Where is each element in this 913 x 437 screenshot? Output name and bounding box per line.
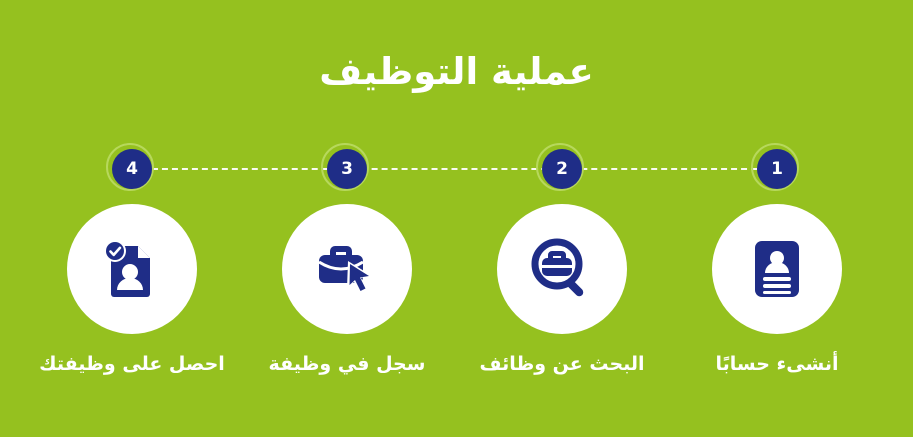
process-step-3[interactable]: 3 سجل في وظيفة [237,143,457,377]
step-badge-2: 2 [536,143,588,195]
step-icon-disc-2 [497,204,627,334]
process-step-4[interactable]: 4 احصل على وظيفتك [22,143,242,377]
briefcase-search-icon [531,238,593,300]
step-label-3: سجل في وظيفة [237,351,457,377]
step-badge-4: 4 [106,143,158,195]
briefcase-cursor-icon [315,240,379,298]
step-label-2: البحث عن وظائف [452,351,672,377]
step-icon-disc-3 [282,204,412,334]
step-icon-disc-1 [712,204,842,334]
step-number-4: 4 [112,149,152,189]
recruitment-process-banner: عملية التوظيف 1 [0,0,913,437]
process-step-1[interactable]: 1 أنشىء حسابًا [667,143,887,377]
step-number-2: 2 [542,149,582,189]
step-badge-1: 1 [751,143,803,195]
step-badge-3: 3 [321,143,373,195]
process-step-2[interactable]: 2 البحث عن وظائف [452,143,672,377]
process-steps: 1 أنشىء حسابًا [0,0,913,437]
step-label-4: احصل على وظيفتك [22,351,242,377]
document-person-check-icon [102,238,162,300]
step-number-3: 3 [327,149,367,189]
step-label-1: أنشىء حسابًا [667,351,887,377]
step-number-1: 1 [757,149,797,189]
step-icon-disc-4 [67,204,197,334]
id-card-icon [751,239,803,299]
